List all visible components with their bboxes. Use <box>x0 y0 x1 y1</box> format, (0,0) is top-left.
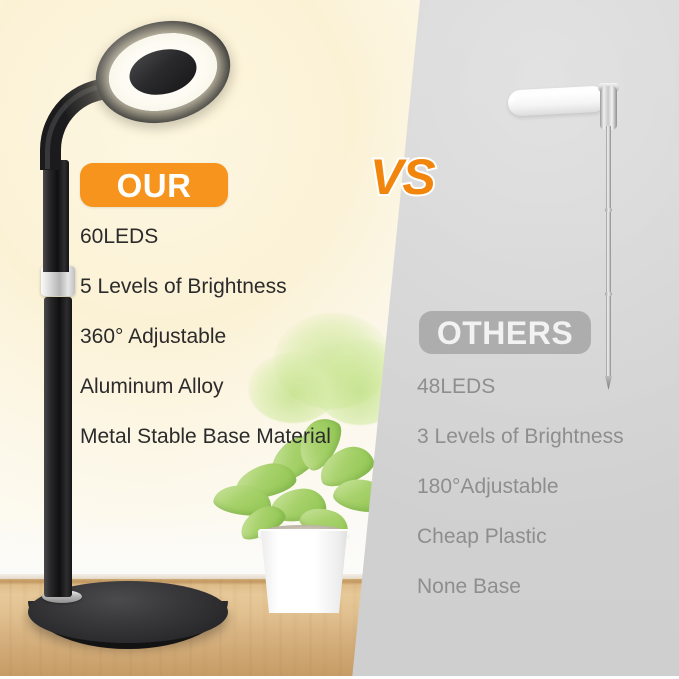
others-feature-item: 180°Adjustable <box>417 476 667 497</box>
others-feature-list: 48LEDS 3 Levels of Brightness 180°Adjust… <box>417 376 667 626</box>
our-feature-item: 360° Adjustable <box>80 326 380 347</box>
others-feature-item: 3 Levels of Brightness <box>417 426 667 447</box>
competitor-hinge <box>600 86 617 130</box>
competitor-pole-segment <box>605 292 612 296</box>
competitor-pole <box>606 126 611 380</box>
others-feature-item: Cheap Plastic <box>417 526 667 547</box>
our-feature-item: 5 Levels of Brightness <box>80 276 380 297</box>
our-feature-list: 60LEDS 5 Levels of Brightness 360° Adjus… <box>80 226 380 476</box>
competitor-pole-segment <box>605 208 612 212</box>
lamp-pole-lower <box>44 297 72 597</box>
white-pot <box>258 531 350 613</box>
competitor-lamp <box>500 80 660 410</box>
others-badge: OTHERS <box>419 311 591 354</box>
our-feature-item: Aluminum Alloy <box>80 376 380 397</box>
comparison-infographic: OUR VS OTHERS 60LEDS 5 Levels of Brightn… <box>0 0 679 679</box>
others-feature-item: 48LEDS <box>417 376 667 397</box>
our-feature-item: Metal Stable Base Material <box>80 426 380 447</box>
our-badge: OUR <box>80 163 228 207</box>
others-feature-item: None Base <box>417 576 667 597</box>
lamp-pole-upper <box>43 160 69 272</box>
our-feature-item: 60LEDS <box>80 226 380 247</box>
vs-label: VS <box>370 152 435 202</box>
